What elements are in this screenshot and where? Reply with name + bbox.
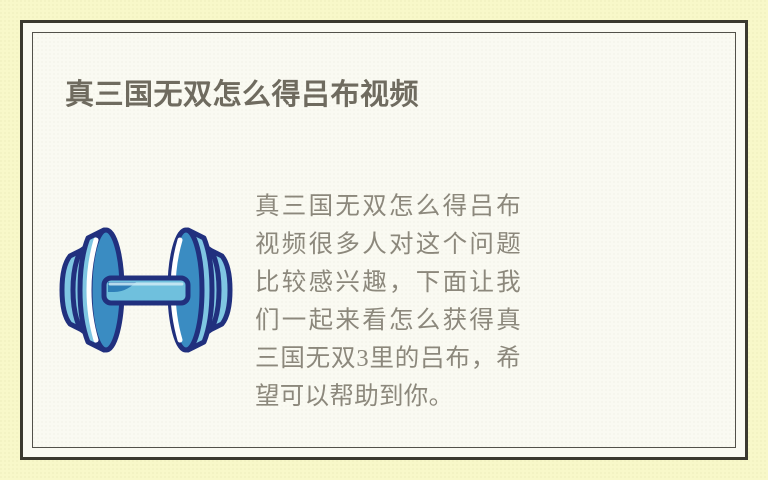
dumbbell-icon (56, 218, 236, 363)
article-body-row: 真三国无双怎么得吕布视频很多人对这个问题比较感兴趣，下面让我们一起来看怎么获得真… (33, 188, 735, 416)
card-inner-frame: 真三国无双怎么得吕布视频 (32, 32, 736, 448)
article-body-text: 真三国无双怎么得吕布视频很多人对这个问题比较感兴趣，下面让我们一起来看怎么获得真… (255, 188, 521, 416)
page-title: 真三国无双怎么得吕布视频 (65, 71, 419, 113)
page-root: 真三国无双怎么得吕布视频 (0, 0, 768, 480)
illustration-container (51, 218, 241, 363)
card-outer-frame: 真三国无双怎么得吕布视频 (20, 20, 748, 460)
card-content: 真三国无双怎么得吕布视频 (33, 33, 735, 447)
